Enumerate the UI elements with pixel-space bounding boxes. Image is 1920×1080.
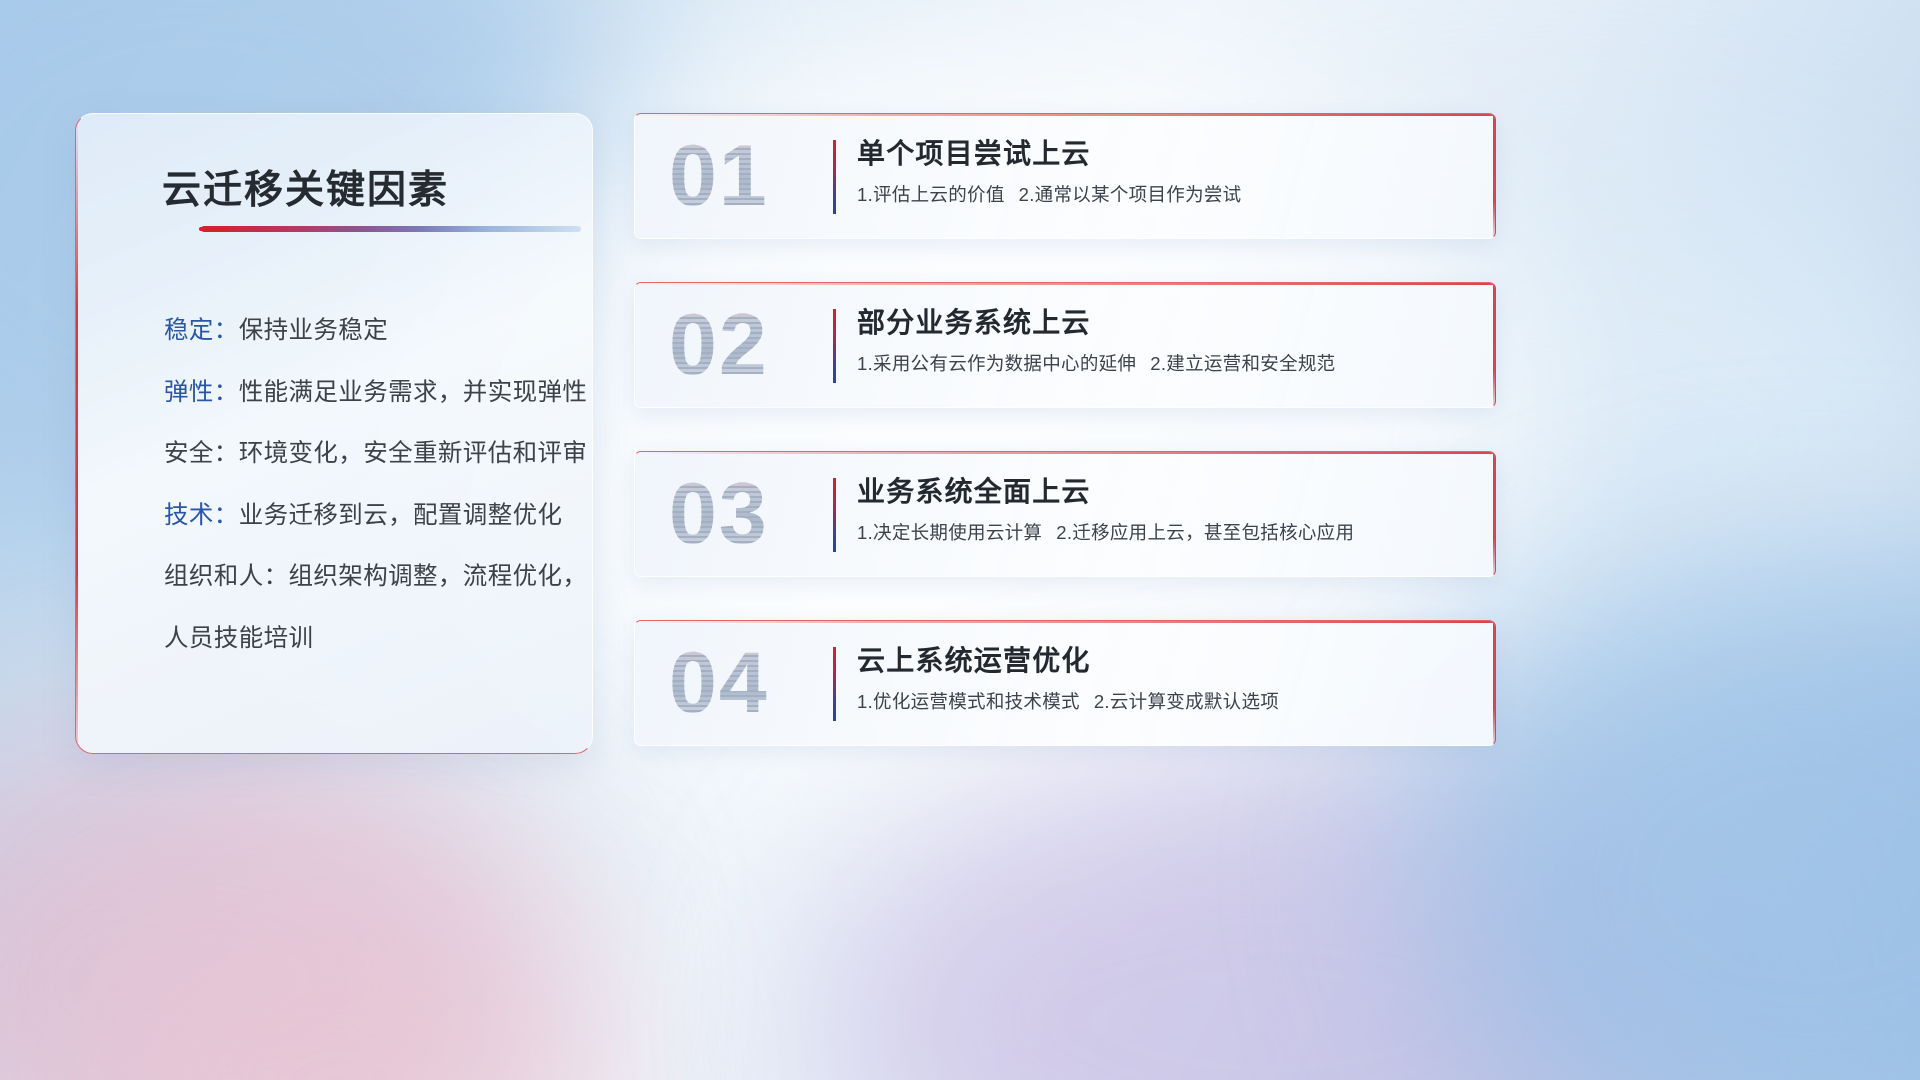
- list-item-label: 弹性：: [164, 379, 239, 406]
- card-description-part-2: 2.通常以某个项目作为尝试: [1019, 184, 1242, 205]
- list-item: 人员技能培训: [164, 627, 568, 652]
- list-item-text: 人员技能培训: [164, 625, 313, 652]
- card-body: 单个项目尝试上云 1.评估上云的价值2.通常以某个项目作为尝试: [857, 136, 1473, 207]
- list-item-text: 组织架构调整，流程优化，: [289, 563, 588, 590]
- card-body: 云上系统运营优化 1.优化运营模式和技术模式2.云计算变成默认选项: [857, 643, 1473, 714]
- stage-card[interactable]: 04 云上系统运营优化 1.优化运营模式和技术模式2.云计算变成默认选项: [634, 620, 1496, 746]
- card-title: 业务系统全面上云: [857, 474, 1473, 509]
- stage-number-watermark: 01: [669, 128, 849, 224]
- list-item: 技术：业务迁移到云，配置调整优化: [164, 504, 568, 529]
- card-body: 业务系统全面上云 1.决定长期使用云计算2.迁移应用上云，甚至包括核心应用: [857, 474, 1473, 545]
- title-underline-gradient: [201, 226, 581, 232]
- stage-number-watermark: 02: [669, 297, 849, 393]
- card-description-part-1: 1.优化运营模式和技术模式: [857, 691, 1080, 712]
- card-description: 1.决定长期使用云计算2.迁移应用上云，甚至包括核心应用: [857, 521, 1473, 545]
- card-description-part-1: 1.决定长期使用云计算: [857, 522, 1042, 543]
- list-item: 弹性：性能满足业务需求，并实现弹性: [164, 381, 568, 406]
- stage-card[interactable]: 03 业务系统全面上云 1.决定长期使用云计算2.迁移应用上云，甚至包括核心应用: [634, 451, 1496, 577]
- list-item-label: 安全：: [164, 440, 239, 467]
- card-description: 1.优化运营模式和技术模式2.云计算变成默认选项: [857, 690, 1473, 714]
- list-item-text: 性能满足业务需求，并实现弹性: [239, 379, 588, 406]
- card-description: 1.采用公有云作为数据中心的延伸2.建立运营和安全规范: [857, 352, 1473, 376]
- stage-cards-list: 01 单个项目尝试上云 1.评估上云的价值2.通常以某个项目作为尝试 02 部分…: [634, 113, 1496, 746]
- card-description-part-2: 2.迁移应用上云，甚至包括核心应用: [1056, 522, 1354, 543]
- list-item: 稳定：保持业务稳定: [164, 319, 568, 344]
- card-description-part-2: 2.建立运营和安全规范: [1150, 353, 1335, 374]
- card-accent-divider: [833, 478, 836, 552]
- list-item: 安全：环境变化，安全重新评估和评审: [164, 442, 568, 467]
- stage-number-watermark: 03: [669, 466, 849, 562]
- card-description-part-1: 1.评估上云的价值: [857, 184, 1005, 205]
- card-accent-divider: [833, 140, 836, 214]
- card-title: 部分业务系统上云: [857, 305, 1473, 340]
- list-item-label: 稳定：: [164, 317, 239, 344]
- card-body: 部分业务系统上云 1.采用公有云作为数据中心的延伸2.建立运营和安全规范: [857, 305, 1473, 376]
- list-item-label: 组织和人：: [164, 563, 289, 590]
- key-factors-panel: 云迁移关键因素 稳定：保持业务稳定 弹性：性能满足业务需求，并实现弹性 安全：环…: [75, 113, 593, 754]
- page-title: 云迁移关键因素: [162, 159, 449, 215]
- list-item-label: 技术：: [164, 502, 239, 529]
- card-accent-divider: [833, 647, 836, 721]
- key-factors-list: 稳定：保持业务稳定 弹性：性能满足业务需求，并实现弹性 安全：环境变化，安全重新…: [164, 319, 568, 651]
- list-item-text: 环境变化，安全重新评估和评审: [239, 440, 588, 467]
- card-title: 单个项目尝试上云: [857, 136, 1473, 171]
- stage-card[interactable]: 01 单个项目尝试上云 1.评估上云的价值2.通常以某个项目作为尝试: [634, 113, 1496, 239]
- card-description-part-2: 2.云计算变成默认选项: [1094, 691, 1279, 712]
- list-item: 组织和人：组织架构调整，流程优化，: [164, 565, 568, 590]
- card-description: 1.评估上云的价值2.通常以某个项目作为尝试: [857, 183, 1473, 207]
- card-description-part-1: 1.采用公有云作为数据中心的延伸: [857, 353, 1136, 374]
- card-title: 云上系统运营优化: [857, 643, 1473, 678]
- stage-number-watermark: 04: [669, 635, 849, 731]
- list-item-text: 保持业务稳定: [239, 317, 388, 344]
- card-accent-divider: [833, 309, 836, 383]
- stage-card[interactable]: 02 部分业务系统上云 1.采用公有云作为数据中心的延伸2.建立运营和安全规范: [634, 282, 1496, 408]
- list-item-text: 业务迁移到云，配置调整优化: [239, 502, 563, 529]
